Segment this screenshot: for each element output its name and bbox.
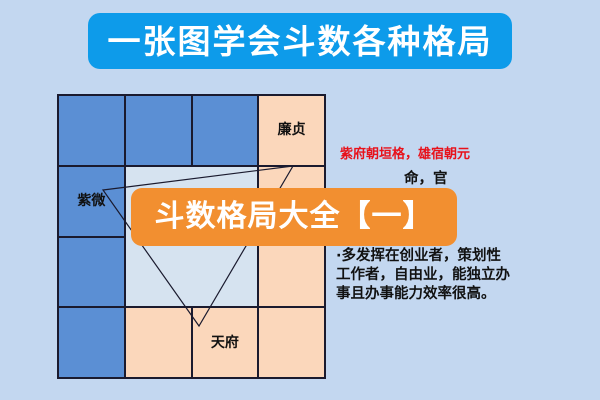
- grid-cell-tianfu[interactable]: 天府: [193, 308, 258, 377]
- grid-cell-lianzhen[interactable]: 廉贞: [259, 96, 324, 165]
- star-label-ziwei: 紫微: [77, 194, 105, 208]
- grid-cell-r4c1[interactable]: [59, 308, 124, 377]
- grid-cell-ziwei[interactable]: 紫微: [59, 167, 124, 236]
- watermark-badge-text: 斗数格局大全【一】: [155, 202, 434, 232]
- watermark-badge: 斗数格局大全【一】: [131, 188, 457, 246]
- grid-cell-r1c1[interactable]: [59, 96, 124, 165]
- grid-cell-r3c4[interactable]: [259, 238, 324, 307]
- description-line-5: ·多发挥在创业者，策划性: [336, 247, 586, 266]
- grid-cell-r4c4[interactable]: [259, 308, 324, 377]
- grid-cell-r4c2[interactable]: [126, 308, 191, 377]
- page-title: 一张图学会斗数各种格局: [108, 25, 493, 58]
- grid-cell-r1c3[interactable]: [193, 96, 258, 165]
- grid-cell-r3c1[interactable]: [59, 238, 124, 307]
- grid-cell-r1c2[interactable]: [126, 96, 191, 165]
- description-line-6: 工作者，自由业，能独立办: [336, 266, 586, 285]
- star-label-lianzhen: 廉贞: [278, 123, 306, 137]
- pattern-heading: 紫府朝垣格，雄宿朝元: [340, 147, 586, 163]
- description-line-7: 事且办事能力效率很高。: [336, 285, 586, 304]
- star-label-tianfu: 天府: [211, 336, 239, 350]
- description-line-1: 命，官: [336, 170, 586, 189]
- page-title-banner: 一张图学会斗数各种格局: [88, 13, 512, 69]
